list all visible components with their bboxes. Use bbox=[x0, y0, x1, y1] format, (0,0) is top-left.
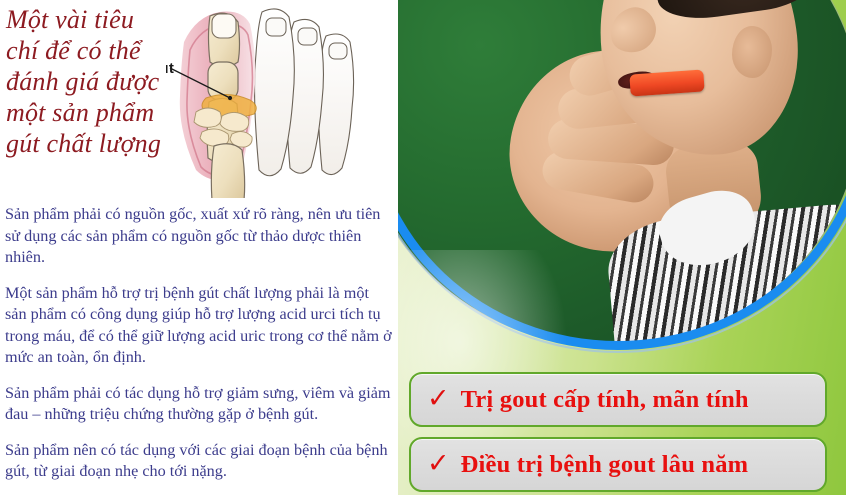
check-icon: ✓ bbox=[427, 385, 450, 412]
callout-box-1[interactable]: ✓ Trị gout cấp tính, mãn tính bbox=[409, 372, 827, 427]
callout-list: ✓ Trị gout cấp tính, mãn tính ✓ Điều trị… bbox=[409, 372, 827, 495]
callout-label: Trị gout cấp tính, mãn tính bbox=[461, 386, 749, 414]
callout-label: Điều trị bệnh gout lâu năm bbox=[461, 451, 749, 479]
left-content-column: Một vài tiêu chí để có thể đánh giá được… bbox=[0, 0, 398, 495]
gout-label: Gout bbox=[166, 60, 174, 77]
page-title: Một vài tiêu chí để có thể đánh giá được… bbox=[6, 4, 166, 159]
paragraph: Sản phẩm phải có tác dụng hỗ trợ giảm sư… bbox=[5, 383, 393, 426]
hero-photo-ellipse bbox=[398, 0, 846, 346]
foot-anatomy-illustration bbox=[166, 0, 398, 198]
right-green-panel: ✓ Trị gout cấp tính, mãn tính ✓ Điều trị… bbox=[398, 0, 846, 495]
paragraph: Một sản phẩm hỗ trợ trị bệnh gút chất lư… bbox=[5, 283, 393, 369]
paragraph: Sản phẩm phải có nguồn gốc, xuất xứ rõ r… bbox=[5, 204, 393, 269]
paragraph: Sản phẩm nên có tác dụng với các giai đo… bbox=[5, 440, 393, 483]
callout-box-2[interactable]: ✓ Điều trị bệnh gout lâu năm bbox=[409, 437, 827, 492]
photo-green-backdrop bbox=[398, 0, 846, 346]
check-icon: ✓ bbox=[427, 450, 450, 477]
article-body: Sản phẩm phải có nguồn gốc, xuất xứ rõ r… bbox=[5, 204, 393, 495]
poster-canvas: ✓ Trị gout cấp tính, mãn tính ✓ Điều trị… bbox=[0, 0, 846, 495]
gout-foot-figure: Gout bbox=[166, 0, 398, 198]
